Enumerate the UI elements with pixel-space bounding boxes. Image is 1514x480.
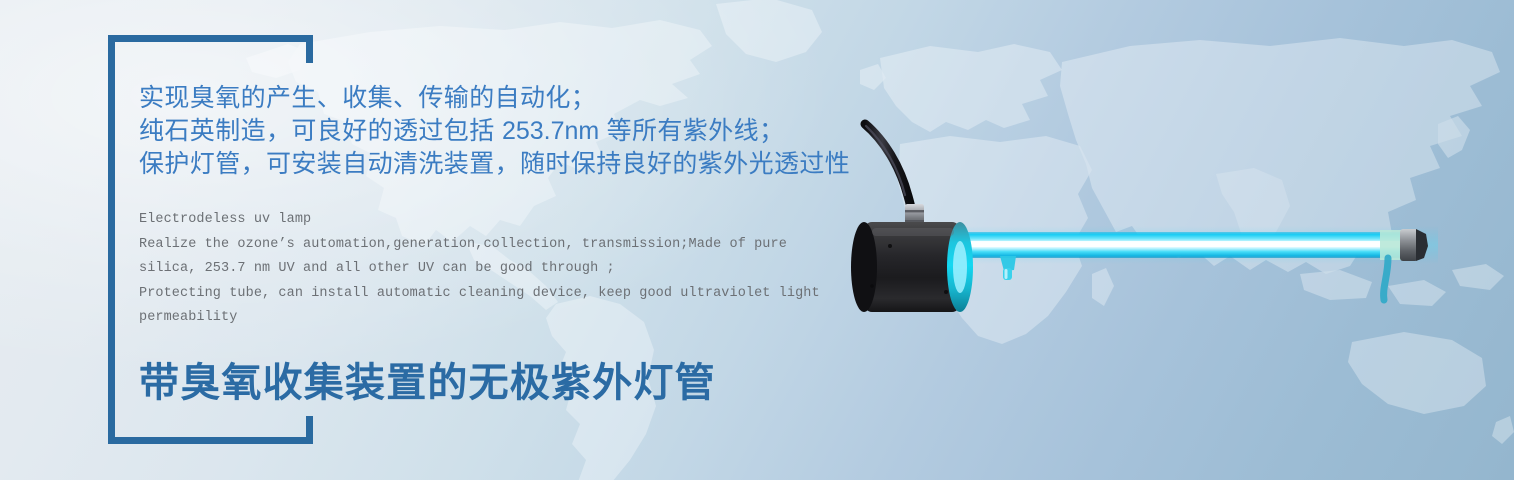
product-banner: 实现臭氧的产生、收集、传输的自动化； 纯石英制造，可良好的透过包括 253.7n… [0, 0, 1514, 480]
text-content-block: 实现臭氧的产生、收集、传输的自动化； 纯石英制造，可良好的透过包括 253.7n… [139, 82, 859, 408]
chinese-line2-prefix: 纯石英制造，可良好的透过包括 [139, 117, 502, 145]
product-headline: 带臭氧收集装置的无极紫外灯管 [139, 358, 859, 408]
mounting-hook-icon [1384, 258, 1388, 300]
glowing-quartz-tube-icon [960, 232, 1410, 258]
english-body-block: Electrodeless uv lamp Realize the ozone’… [139, 208, 829, 331]
english-body-line-3: silica, 253.7 nm UV and all other UV can… [139, 257, 829, 282]
english-body-line-4: Protecting tube, can install automatic c… [139, 282, 829, 307]
chinese-body-line-2: 纯石英制造，可良好的透过包括 253.7nm 等所有紫外线； [139, 115, 859, 148]
english-body-line-1: Electrodeless uv lamp [139, 208, 829, 233]
cylindrical-housing-icon [851, 222, 973, 312]
ozone-outlet-nozzle-icon [1000, 256, 1016, 280]
wavelength-value: 253.7nm [502, 117, 599, 145]
chinese-body-line-1: 实现臭氧的产生、收集、传输的自动化； [139, 82, 859, 115]
product-image-uv-lamp [848, 110, 1458, 310]
chinese-line2-suffix: 等所有紫外线； [599, 117, 784, 145]
english-body-line-5: permeability [139, 306, 829, 331]
chinese-body-line-3: 保护灯管，可安装自动清洗装置，随时保持良好的紫外光透过性 [139, 148, 859, 181]
english-body-line-2: Realize the ozone’s automation,generatio… [139, 233, 829, 258]
